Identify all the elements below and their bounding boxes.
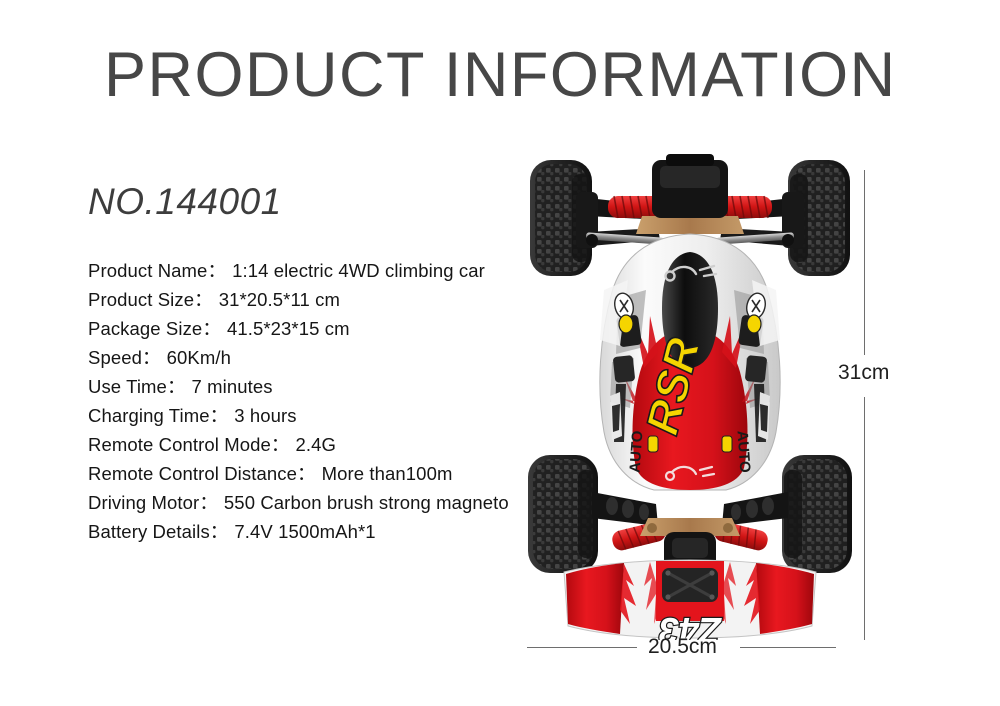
spec-value: 7.4V 1500mAh*1 [234, 521, 375, 542]
spec-label: Battery Details [88, 521, 210, 542]
specification-list: Product Name：1:14 electric 4WD climbing … [88, 256, 558, 546]
spec-colon: ： [194, 289, 213, 310]
car-body-shell: RSR AUTO AUTO [600, 234, 780, 490]
spec-value: 3 hours [234, 405, 296, 426]
decal-auto-right: AUTO [734, 430, 754, 474]
spec-value: More than100m [322, 463, 453, 484]
spec-row-remote-control-distance: Remote Control Distance：More than100m [88, 459, 558, 488]
spec-colon: ： [199, 492, 218, 513]
spec-value: 7 minutes [192, 376, 273, 397]
spec-value: 550 Carbon brush strong magneto [224, 492, 509, 513]
spec-colon: ： [167, 376, 186, 397]
spec-row-product-size: Product Size：31*20.5*11 cm [88, 285, 558, 314]
spec-row-remote-control-mode: Remote Control Mode：2.4G [88, 430, 558, 459]
decal-auto-left: AUTO [627, 430, 647, 474]
spec-row-use-time: Use Time：7 minutes [88, 372, 558, 401]
model-number: NO.144001 [88, 183, 282, 220]
spec-label: Package Size [88, 318, 202, 339]
page-title: PRODUCT INFORMATION [104, 44, 897, 107]
width-dimension-label: 20.5cm [648, 636, 717, 657]
spec-colon: ： [202, 318, 221, 339]
spec-label: Remote Control Mode [88, 434, 271, 455]
height-dimension-line-bottom [864, 397, 865, 640]
spec-colon: ： [271, 434, 290, 455]
width-dimension-line-right [740, 647, 836, 648]
spec-row-speed: Speed：60Km/h [88, 343, 558, 372]
spec-colon: ： [297, 463, 316, 484]
spec-colon: ： [142, 347, 161, 368]
spec-colon: ： [207, 260, 226, 281]
spec-label: Product Name [88, 260, 207, 281]
rear-left-wheel [528, 455, 598, 573]
rear-right-wheel [782, 455, 852, 573]
spec-row-package-size: Package Size：41.5*23*15 cm [88, 314, 558, 343]
height-dimension-line-top [864, 170, 865, 355]
height-dimension-label: 31cm [838, 362, 889, 383]
spec-colon: ： [210, 521, 229, 542]
spec-label: Driving Motor [88, 492, 199, 513]
spec-label: Product Size [88, 289, 194, 310]
spec-row-product-name: Product Name：1:14 electric 4WD climbing … [88, 256, 558, 285]
spec-row-driving-motor: Driving Motor：550 Carbon brush strong ma… [88, 488, 558, 517]
product-photo-rc-car: RSR AUTO AUTO [500, 140, 880, 640]
spec-label: Use Time [88, 376, 167, 397]
spec-value: 31*20.5*11 cm [219, 289, 340, 310]
spec-label: Charging Time [88, 405, 210, 426]
spec-colon: ： [210, 405, 229, 426]
spec-row-battery-details: Battery Details：7.4V 1500mAh*1 [88, 517, 558, 546]
spec-value: 1:14 electric 4WD climbing car [232, 260, 485, 281]
wing-mount-plate [662, 568, 718, 602]
spec-value: 2.4G [295, 434, 336, 455]
spec-label: Speed [88, 347, 142, 368]
product-information-page: PRODUCT INFORMATION NO.144001 Product Na… [0, 0, 1000, 706]
width-dimension-line-left [527, 647, 637, 648]
spec-label: Remote Control Distance [88, 463, 297, 484]
spec-row-charging-time: Charging Time：3 hours [88, 401, 558, 430]
spec-value: 41.5*23*15 cm [227, 318, 350, 339]
spec-value: 60Km/h [167, 347, 231, 368]
rear-wing: Z43 [564, 560, 816, 640]
